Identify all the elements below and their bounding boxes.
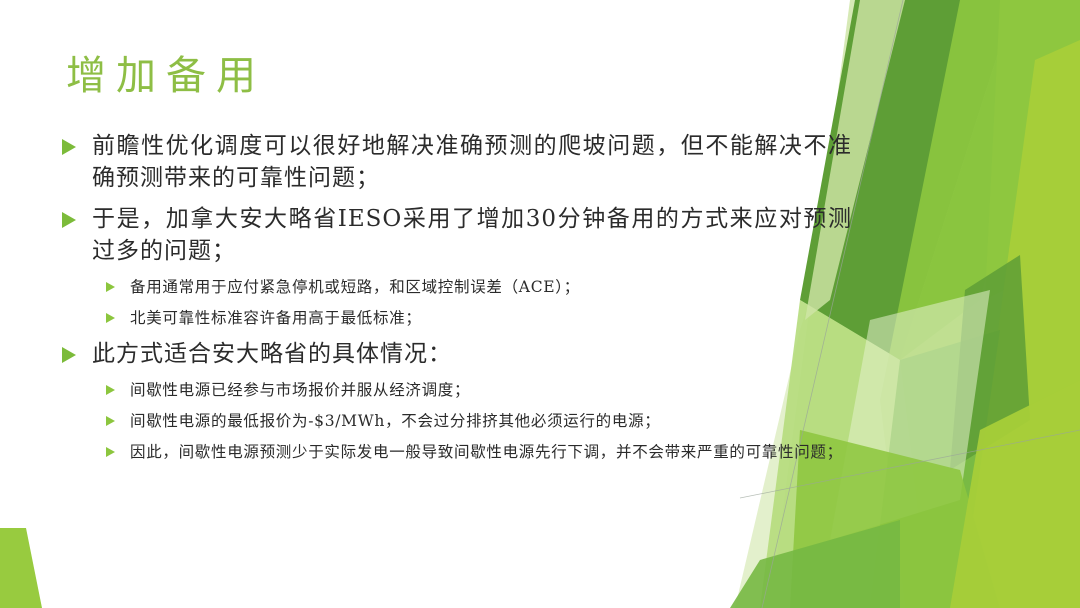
facet-dark-lower: [870, 330, 1000, 608]
bullet-text: 因此，间歇性电源预测少于实际发电一般导致间歇性电源先行下调，并不会带来严重的可靠…: [130, 441, 852, 464]
facet-bottom-lime: [950, 380, 1080, 608]
presentation-slide: 增加备用 前瞻性优化调度可以很好地解决准确预测的爬坡问题，但不能解决不准确预测带…: [0, 0, 1080, 608]
facet-darkgreen-wedge: [950, 255, 1030, 470]
bullet-text: 于是，加拿大安大略省IESO采用了增加30分钟备用的方式来应对预测过多的问题；: [92, 203, 852, 267]
slide-body: 前瞻性优化调度可以很好地解决准确预测的爬坡问题，但不能解决不准确预测带来的可靠性…: [62, 130, 852, 472]
sub-bullet-group: 备用通常用于应付紧急停机或短路，和区域控制误差（ACE）； 北美可靠性标准容许备…: [62, 276, 852, 330]
triangle-right-icon: [106, 307, 130, 323]
triangle-right-icon: [106, 441, 130, 457]
facet-pale-overlay: [830, 290, 990, 540]
triangle-right-icon: [106, 276, 130, 292]
corner-wedge-bottom-left: [0, 528, 42, 608]
triangle-right-icon: [62, 203, 92, 228]
bullet-item-level2: 间歇性电源的最低报价为-$3/MWh，不会过分排挤其他必须运行的电源；: [106, 410, 852, 433]
sub-bullet-group: 间歇性电源已经参与市场报价并服从经济调度； 间歇性电源的最低报价为-$3/MWh…: [62, 379, 852, 464]
bullet-text: 此方式适合安大略省的具体情况：: [92, 338, 852, 370]
facet-lime-right: [960, 40, 1080, 608]
facet-bottom-dark: [730, 520, 900, 608]
bullet-text: 间歇性电源已经参与市场报价并服从经济调度；: [130, 379, 852, 402]
triangle-right-icon: [62, 130, 92, 155]
bullet-item-level1: 于是，加拿大安大略省IESO采用了增加30分钟备用的方式来应对预测过多的问题；: [62, 203, 852, 267]
facet-bright-tall: [880, 0, 1080, 608]
triangle-right-icon: [106, 410, 130, 426]
triangle-right-icon: [106, 379, 130, 395]
bullet-item-level1: 前瞻性优化调度可以很好地解决准确预测的爬坡问题，但不能解决不准确预测带来的可靠性…: [62, 130, 852, 194]
bullet-item-level2: 北美可靠性标准容许备用高于最低标准；: [106, 307, 852, 330]
bullet-item-level2: 因此，间歇性电源预测少于实际发电一般导致间歇性电源先行下调，并不会带来严重的可靠…: [106, 441, 852, 464]
page-title: 增加备用: [66, 52, 266, 100]
bullet-text: 前瞻性优化调度可以很好地解决准确预测的爬坡问题，但不能解决不准确预测带来的可靠性…: [92, 130, 852, 194]
bullet-item-level2: 备用通常用于应付紧急停机或短路，和区域控制误差（ACE）；: [106, 276, 852, 299]
bullet-item-level2: 间歇性电源已经参与市场报价并服从经济调度；: [106, 379, 852, 402]
bullet-text: 间歇性电源的最低报价为-$3/MWh，不会过分排挤其他必须运行的电源；: [130, 410, 852, 433]
triangle-right-icon: [62, 338, 92, 363]
facet-mid-right: [985, 0, 1080, 300]
bullet-text: 北美可靠性标准容许备用高于最低标准；: [130, 307, 852, 330]
bullet-item-level1: 此方式适合安大略省的具体情况：: [62, 338, 852, 370]
facet-dark-band-2: [900, 0, 1060, 360]
bullet-text: 备用通常用于应付紧急停机或短路，和区域控制误差（ACE）；: [130, 276, 852, 299]
